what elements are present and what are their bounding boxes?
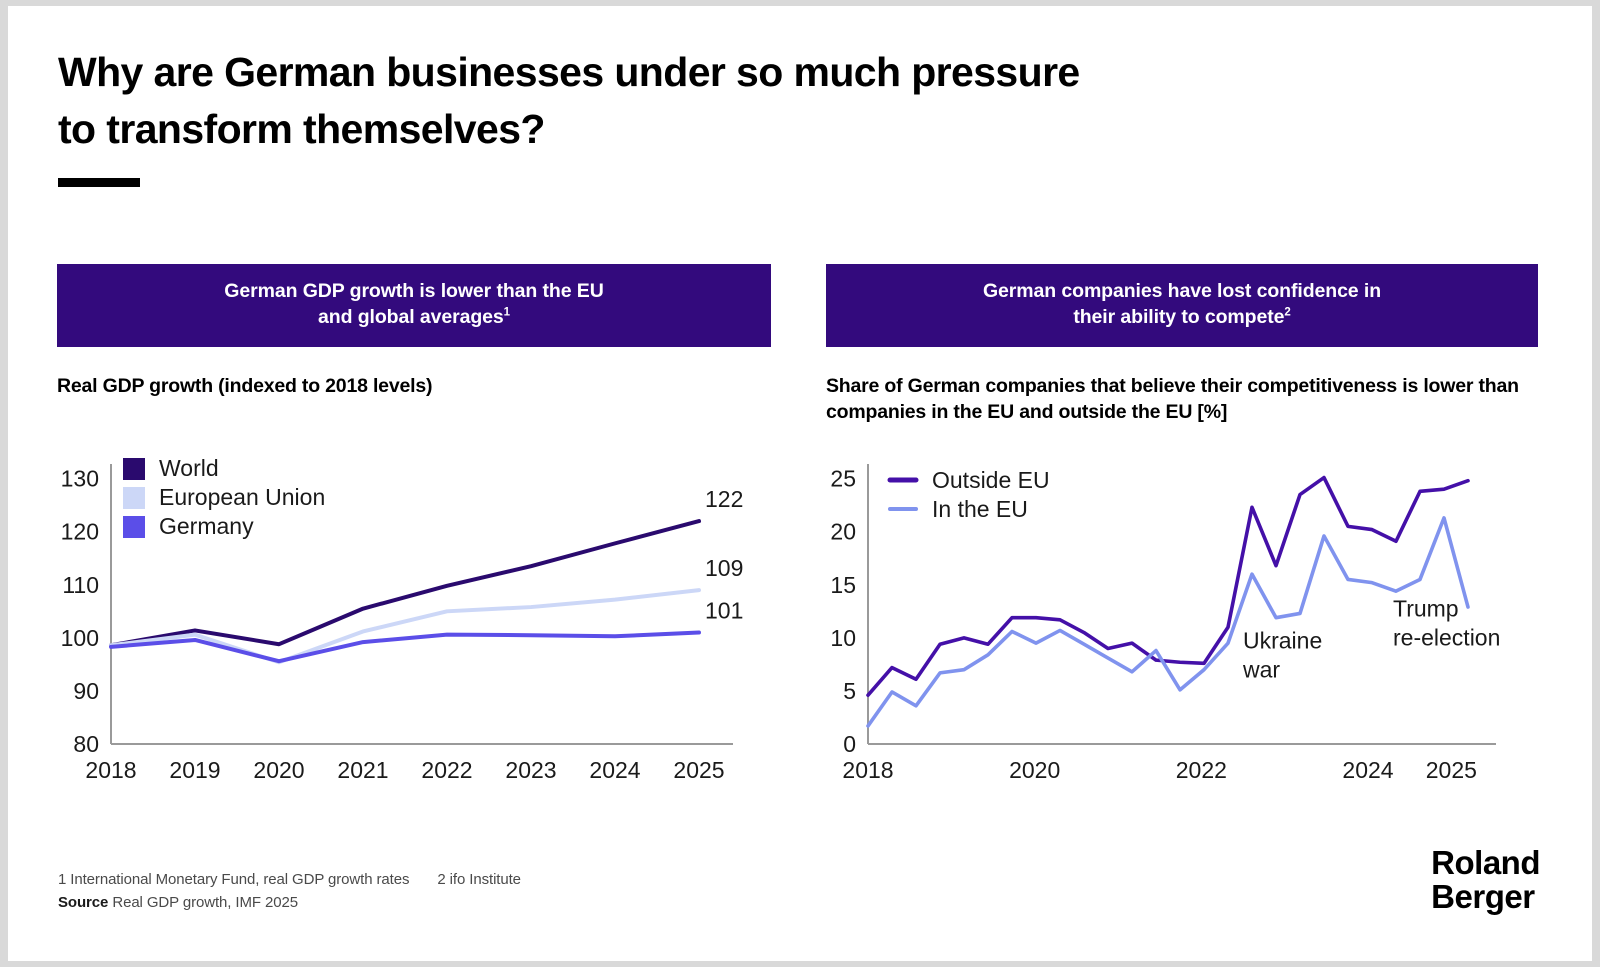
y-axis-tick-label: 25 [830,466,856,492]
legend-label-in-the-eu: In the EU [932,496,1028,522]
y-axis-tick-label: 20 [830,519,856,545]
footnotes: 1 International Monetary Fund, real GDP … [58,868,521,915]
left-panel-subtitle: Real GDP growth (indexed to 2018 levels) [57,373,771,400]
logo-line-2: Berger [1431,880,1540,914]
source-row: Source Real GDP growth, IMF 2025 [58,891,521,914]
annotation-line: Trump [1393,596,1459,622]
title-underline-rule [58,178,140,187]
x-axis-tick-label: 2022 [1176,757,1227,783]
x-axis-tick-label: 2020 [253,757,304,783]
legend-label-world: World [159,455,219,481]
footnote-1: 1 International Monetary Fund, real GDP … [58,868,409,891]
x-axis-tick-label: 2022 [421,757,472,783]
logo-line-1: Roland [1431,846,1540,880]
footnote-row: 1 International Monetary Fund, real GDP … [58,868,521,891]
y-axis-tick-label: 5 [843,678,856,704]
left-panel-footnote-marker: 1 [504,306,510,318]
x-axis-tick-label: 2018 [842,757,893,783]
x-axis-tick-label: 2025 [1426,757,1477,783]
left-panel: German GDP growth is lower than the EU a… [57,264,771,399]
series-line-in-the-eu [868,518,1468,726]
annotation-2: Trumpre-election [1393,596,1500,651]
x-axis-tick-label: 2025 [673,757,724,783]
series-end-label-world: 122 [705,486,743,512]
legend-label-germany: Germany [159,513,254,539]
left-panel-header-line2: and global averages [318,306,504,328]
series-end-label-european-union: 109 [705,555,743,581]
competitiveness-chart-svg: 051015202520182020202220242025Outside EU… [820,446,1520,796]
x-axis-tick-label: 2019 [169,757,220,783]
y-axis-tick-label: 0 [843,731,856,757]
right-panel-header-line1: German companies have lost confidence in [983,280,1381,302]
legend-swatch-germany [123,516,145,538]
y-axis-tick-label: 80 [73,731,99,757]
annotation-line: re-election [1393,625,1500,651]
legend-label-outside-eu: Outside EU [932,467,1050,493]
competitiveness-chart: 051015202520182020202220242025Outside EU… [820,446,1520,796]
right-panel-header: German companies have lost confidence in… [826,264,1538,347]
series-line-european-union [111,590,699,662]
y-axis-tick-label: 90 [73,678,99,704]
y-axis-tick-label: 130 [61,466,99,492]
y-axis-tick-label: 10 [830,625,856,651]
x-axis-tick-label: 2021 [337,757,388,783]
annotation-line: Ukraine [1243,627,1322,653]
x-axis-tick-label: 2020 [1009,757,1060,783]
annotation-line: war [1242,656,1280,682]
series-line-world [111,521,699,645]
right-panel-header-line2: their ability to compete [1073,306,1284,328]
legend-label-european-union: European Union [159,484,325,510]
x-axis-tick-label: 2024 [1342,757,1393,783]
legend-swatch-european-union [123,487,145,509]
page-title: Why are German businesses under so much … [58,44,1358,157]
x-axis-tick-label: 2023 [505,757,556,783]
y-axis-tick-label: 15 [830,572,856,598]
right-panel-subtitle: Share of German companies that believe t… [826,373,1538,426]
roland-berger-logo: Roland Berger [1431,846,1540,915]
slide-canvas: Why are German businesses under so much … [8,6,1592,961]
annotation-1: Ukrainewar [1242,627,1322,682]
footnote-2: 2 ifo Institute [437,868,521,891]
right-panel-footnote-marker: 2 [1284,306,1290,318]
left-panel-header-line1: German GDP growth is lower than the EU [224,280,603,302]
legend-swatch-world [123,458,145,480]
source-label: Source [58,894,108,911]
x-axis-tick-label: 2024 [589,757,640,783]
right-panel: German companies have lost confidence in… [826,264,1538,426]
gdp-index-chart-svg: 8090100110120130201820192020202120222023… [53,446,753,796]
gdp-index-chart: 8090100110120130201820192020202120222023… [53,446,753,796]
y-axis-tick-label: 100 [61,625,99,651]
y-axis-tick-label: 120 [61,519,99,545]
y-axis-tick-label: 110 [62,572,99,598]
x-axis-tick-label: 2018 [85,757,136,783]
series-end-label-germany: 101 [705,598,743,624]
source-text: Real GDP growth, IMF 2025 [112,894,298,911]
left-panel-header: German GDP growth is lower than the EU a… [57,264,771,347]
